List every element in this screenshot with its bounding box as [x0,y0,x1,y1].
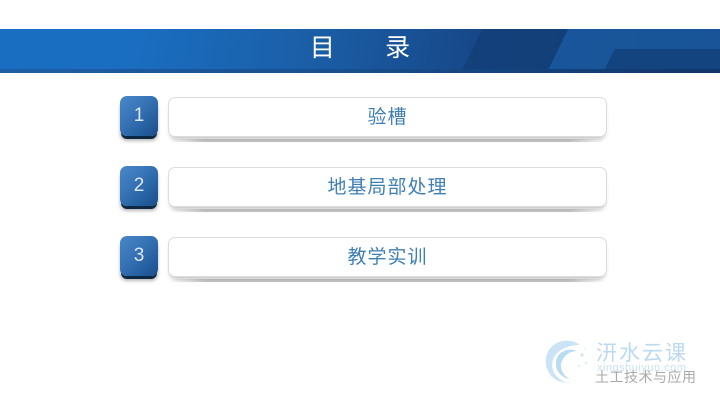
toc-item-label: 地基局部处理 [169,168,606,208]
toc-number-badge: 1 [120,96,158,136]
toc-item-label: 教学实训 [169,238,606,278]
banner-underline [0,69,720,73]
toc-item-label: 验槽 [169,98,606,138]
toc-bar-shadow [170,209,604,212]
toc-bar[interactable]: 教学实训 [168,237,607,277]
logo-subtitle-text: 土工技术与应用 [595,367,697,387]
toc-item-3[interactable]: 3 教学实训 [0,236,720,282]
toc-bar-shadow [170,139,604,142]
toc-item-1[interactable]: 1 验槽 [0,96,720,142]
wave-swirl-icon [540,335,594,387]
toc-number-badge: 3 [120,236,158,276]
toc-list: 1 验槽 2 地基局部处理 3 教学实训 [0,96,720,306]
watermark-logo: 汧水云课 xingshuiyun.com 土工技术与应用 [540,333,716,395]
slide-root: 目 录 1 验槽 2 地基局部处理 3 教学实训 [0,0,720,405]
toc-item-2[interactable]: 2 地基局部处理 [0,166,720,212]
toc-bar[interactable]: 地基局部处理 [168,167,607,207]
page-title: 目 录 [0,29,720,69]
header-banner: 目 录 [0,29,720,73]
toc-number-badge: 2 [120,166,158,206]
toc-bar[interactable]: 验槽 [168,97,607,137]
toc-bar-shadow [170,279,604,282]
